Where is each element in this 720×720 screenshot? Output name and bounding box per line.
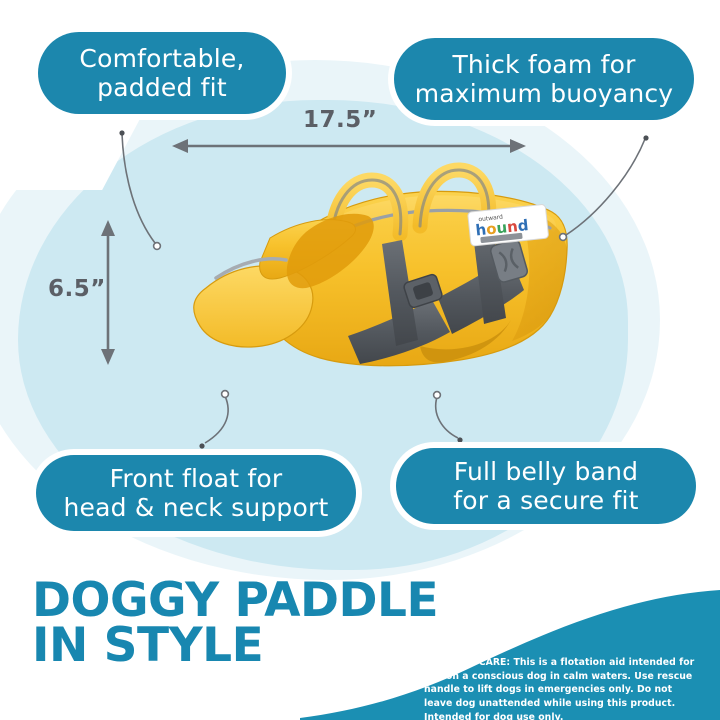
callout-line-2: head & neck support — [64, 493, 329, 522]
callout-line-2: padded fit — [97, 73, 227, 102]
infographic-canvas: outward hound — [0, 0, 720, 720]
callout-line-1: Thick foam for — [452, 50, 635, 79]
callout-line-1: Front float for — [110, 464, 283, 493]
callout-front-float-support[interactable]: Front float for head & neck support — [36, 455, 356, 531]
callout-comfortable-padded-fit[interactable]: Comfortable, padded fit — [38, 32, 286, 114]
callout-full-belly-band[interactable]: Full belly band for a secure fit — [396, 448, 696, 524]
callout-thick-foam-buoyancy[interactable]: Thick foam for maximum buoyancy — [394, 38, 694, 120]
callout-line-1: Comfortable, — [79, 44, 244, 73]
safety-and-care-text: SAFETY & CARE: This is a flotation aid i… — [424, 656, 700, 720]
width-dimension-label: 17.5” — [303, 107, 377, 133]
height-dimension-label: 6.5” — [48, 276, 106, 302]
page-headline: DOGGY PADDLE IN STYLE — [32, 578, 438, 668]
callout-line-2: for a secure fit — [453, 486, 638, 515]
headline-line-1: DOGGY PADDLE — [32, 578, 438, 623]
callout-line-2: maximum buoyancy — [415, 79, 674, 108]
headline-line-2: IN STYLE — [32, 623, 438, 668]
callout-line-1: Full belly band — [454, 457, 638, 486]
product-image-dog-life-jacket: outward hound — [120, 150, 590, 405]
